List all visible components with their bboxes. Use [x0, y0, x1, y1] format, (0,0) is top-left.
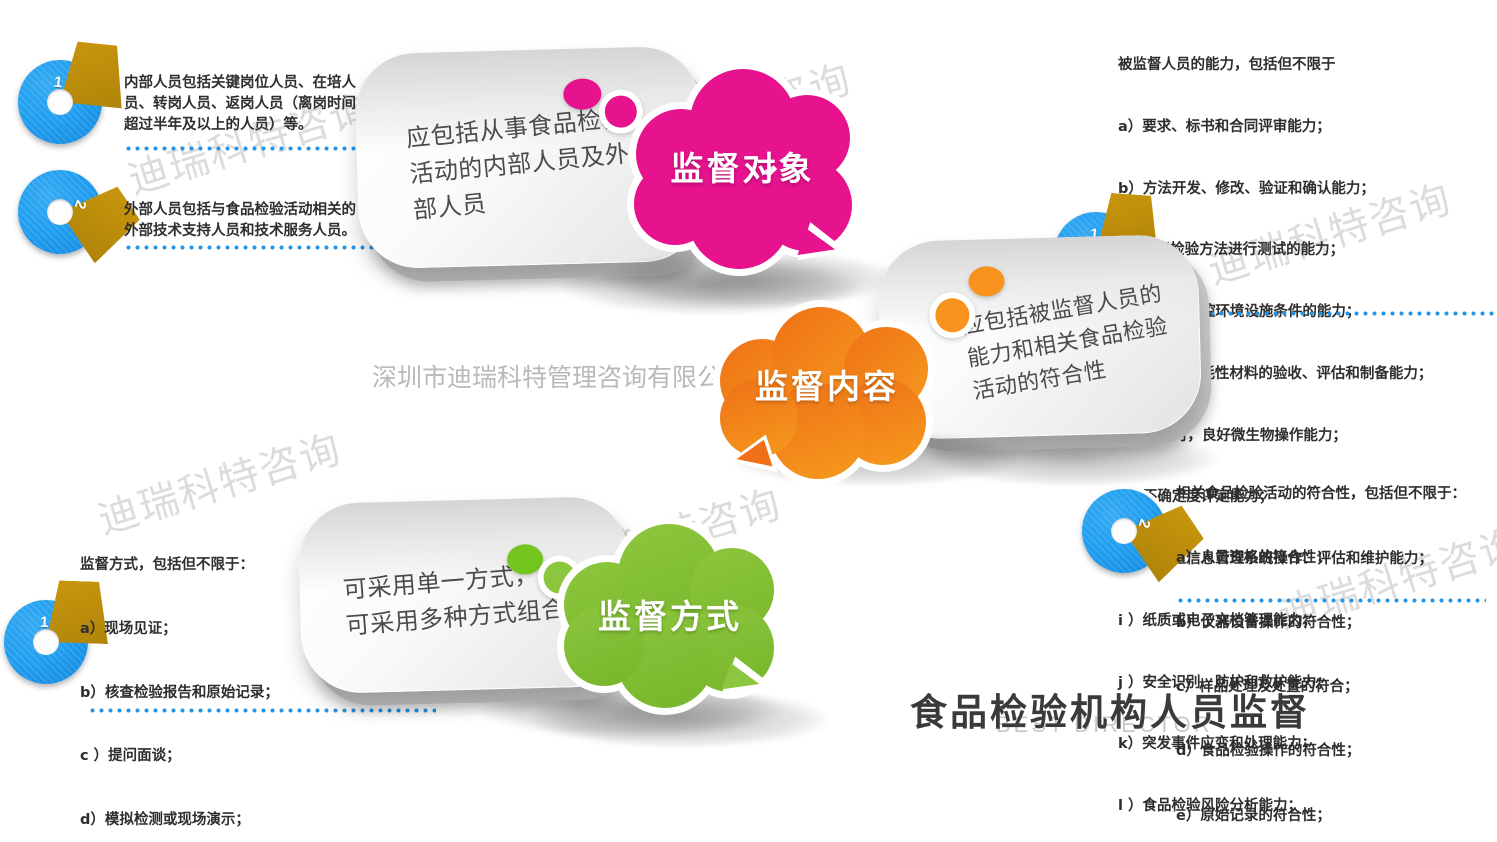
- note-item: b）方法开发、修改、验证和确认能力；: [1118, 179, 1497, 200]
- note-item: a）人员资格的符合性；: [1176, 548, 1496, 569]
- infographic-canvas: 迪瑞科特咨询 迪瑞科特咨询 迪瑞科特咨询 迪瑞科特咨询 迪瑞科特咨询 迪瑞科特咨…: [0, 0, 1497, 842]
- cloud-bubble-object: 监督对象: [625, 60, 860, 275]
- badge-number: 1: [40, 614, 49, 631]
- note-item: a）要求、标书和合同评审能力；: [1118, 117, 1497, 138]
- note-bottom-right: 相关食品检验活动的符合性，包括但不限于： a）人员资格的符合性； b）仪器设备操…: [1176, 441, 1496, 842]
- note-heading: 被监督人员的能力，包括但不限于: [1118, 55, 1497, 76]
- note-item: c ）提问面谈；: [80, 746, 410, 767]
- cloud-bubble-method: 监督方式: [555, 515, 785, 705]
- note-item: d）模拟检测或现场演示；: [80, 810, 410, 831]
- badge-bottom-right-2: 2: [1082, 489, 1166, 573]
- note-heading: 相关食品检验活动的符合性，包括但不限于：: [1176, 484, 1496, 505]
- note-item: b）仪器设备操作的符合性；: [1176, 613, 1496, 634]
- cloud-label-object: 监督对象: [625, 142, 860, 190]
- cloud-label-method: 监督方式: [555, 590, 785, 638]
- note-item: e）原始记录的符合性；: [1176, 806, 1496, 827]
- badge-number: 1: [53, 74, 63, 92]
- badge-top-left-1: 1: [18, 60, 102, 144]
- badge-hole: [1111, 518, 1137, 544]
- note-divider-bottom-left: [88, 708, 436, 713]
- page-title: 食品检验机构人员监督: [910, 682, 1310, 736]
- badge-hole: [33, 629, 59, 655]
- badge-hole: [47, 199, 73, 225]
- badge-hole: [47, 89, 73, 115]
- badge-top-left-2: 2: [18, 170, 102, 254]
- note-item: d）食品检验操作的符合性；: [1176, 741, 1496, 762]
- company-watermark: 深圳市迪瑞科特管理咨询有限公司: [372, 358, 747, 394]
- badge-bottom-left-1: 1: [4, 600, 88, 684]
- note-divider-bottom-right: [1176, 598, 1486, 603]
- cloud-label-content: 监督内容: [713, 360, 941, 408]
- cloud-bubble-content: 监督内容: [713, 300, 941, 470]
